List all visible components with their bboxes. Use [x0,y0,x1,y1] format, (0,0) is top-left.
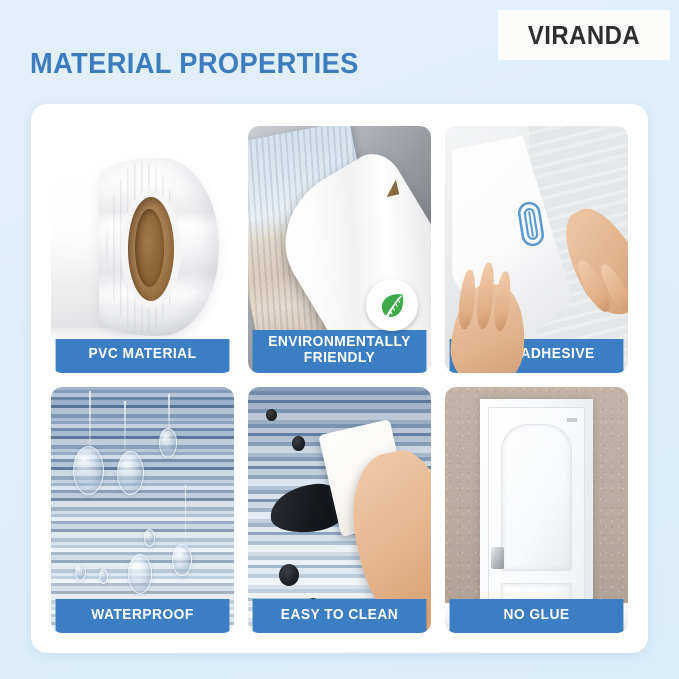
water-droplet [117,451,144,495]
page-title: MATERIAL PROPERTIES [30,48,359,81]
door-frame [480,399,593,633]
door-handle [491,547,504,569]
feature-grid: PVC MATERIAL [51,126,628,633]
feature-label-easy-to-clean: EASY TO CLEAN [253,599,427,633]
water-trail [185,485,187,549]
brand-name: VIRANDA [528,20,640,51]
door-frame-marking [567,418,577,423]
stain-spot [266,409,277,421]
water-droplet [159,428,177,458]
feature-card-waterproof[interactable]: WATERPROOF [51,387,234,634]
pvc-roll-image [51,126,234,373]
brand-logo-box: VIRANDA [498,10,670,60]
feature-card-no-glue[interactable]: NO GLUE [445,387,628,634]
stain-spot [279,564,299,586]
self-adhesive-image [445,126,628,373]
stain-spot [292,436,305,451]
feature-label-pvc-material: PVC MATERIAL [56,339,230,373]
waterproof-image [51,387,234,634]
water-droplet [75,564,86,581]
feature-card-environmentally-friendly[interactable]: ENVIRONMENTALLY FRIENDLY [248,126,431,373]
water-droplet [144,529,155,546]
feature-card-easy-to-clean[interactable]: EASY TO CLEAN [248,387,431,634]
eco-roll-corner [383,180,399,198]
water-droplet [172,544,192,576]
feature-panel: PVC MATERIAL [31,104,648,653]
feature-card-pvc-material[interactable]: PVC MATERIAL [51,126,234,373]
feature-label-environmentally-friendly: ENVIRONMENTALLY FRIENDLY [253,330,427,372]
easy-to-clean-image [248,387,431,634]
feature-label-no-glue: NO GLUE [450,599,624,633]
feature-card-self-adhesive[interactable]: SELF-ADHESIVE [445,126,628,373]
water-droplet [73,446,104,495]
water-droplet [128,554,152,593]
water-droplet [99,569,108,584]
water-trail [124,401,126,450]
door-panel-top [501,424,572,572]
feature-label-waterproof: WATERPROOF [56,599,230,633]
no-glue-door-image [445,387,628,634]
leaf-icon [366,279,418,331]
